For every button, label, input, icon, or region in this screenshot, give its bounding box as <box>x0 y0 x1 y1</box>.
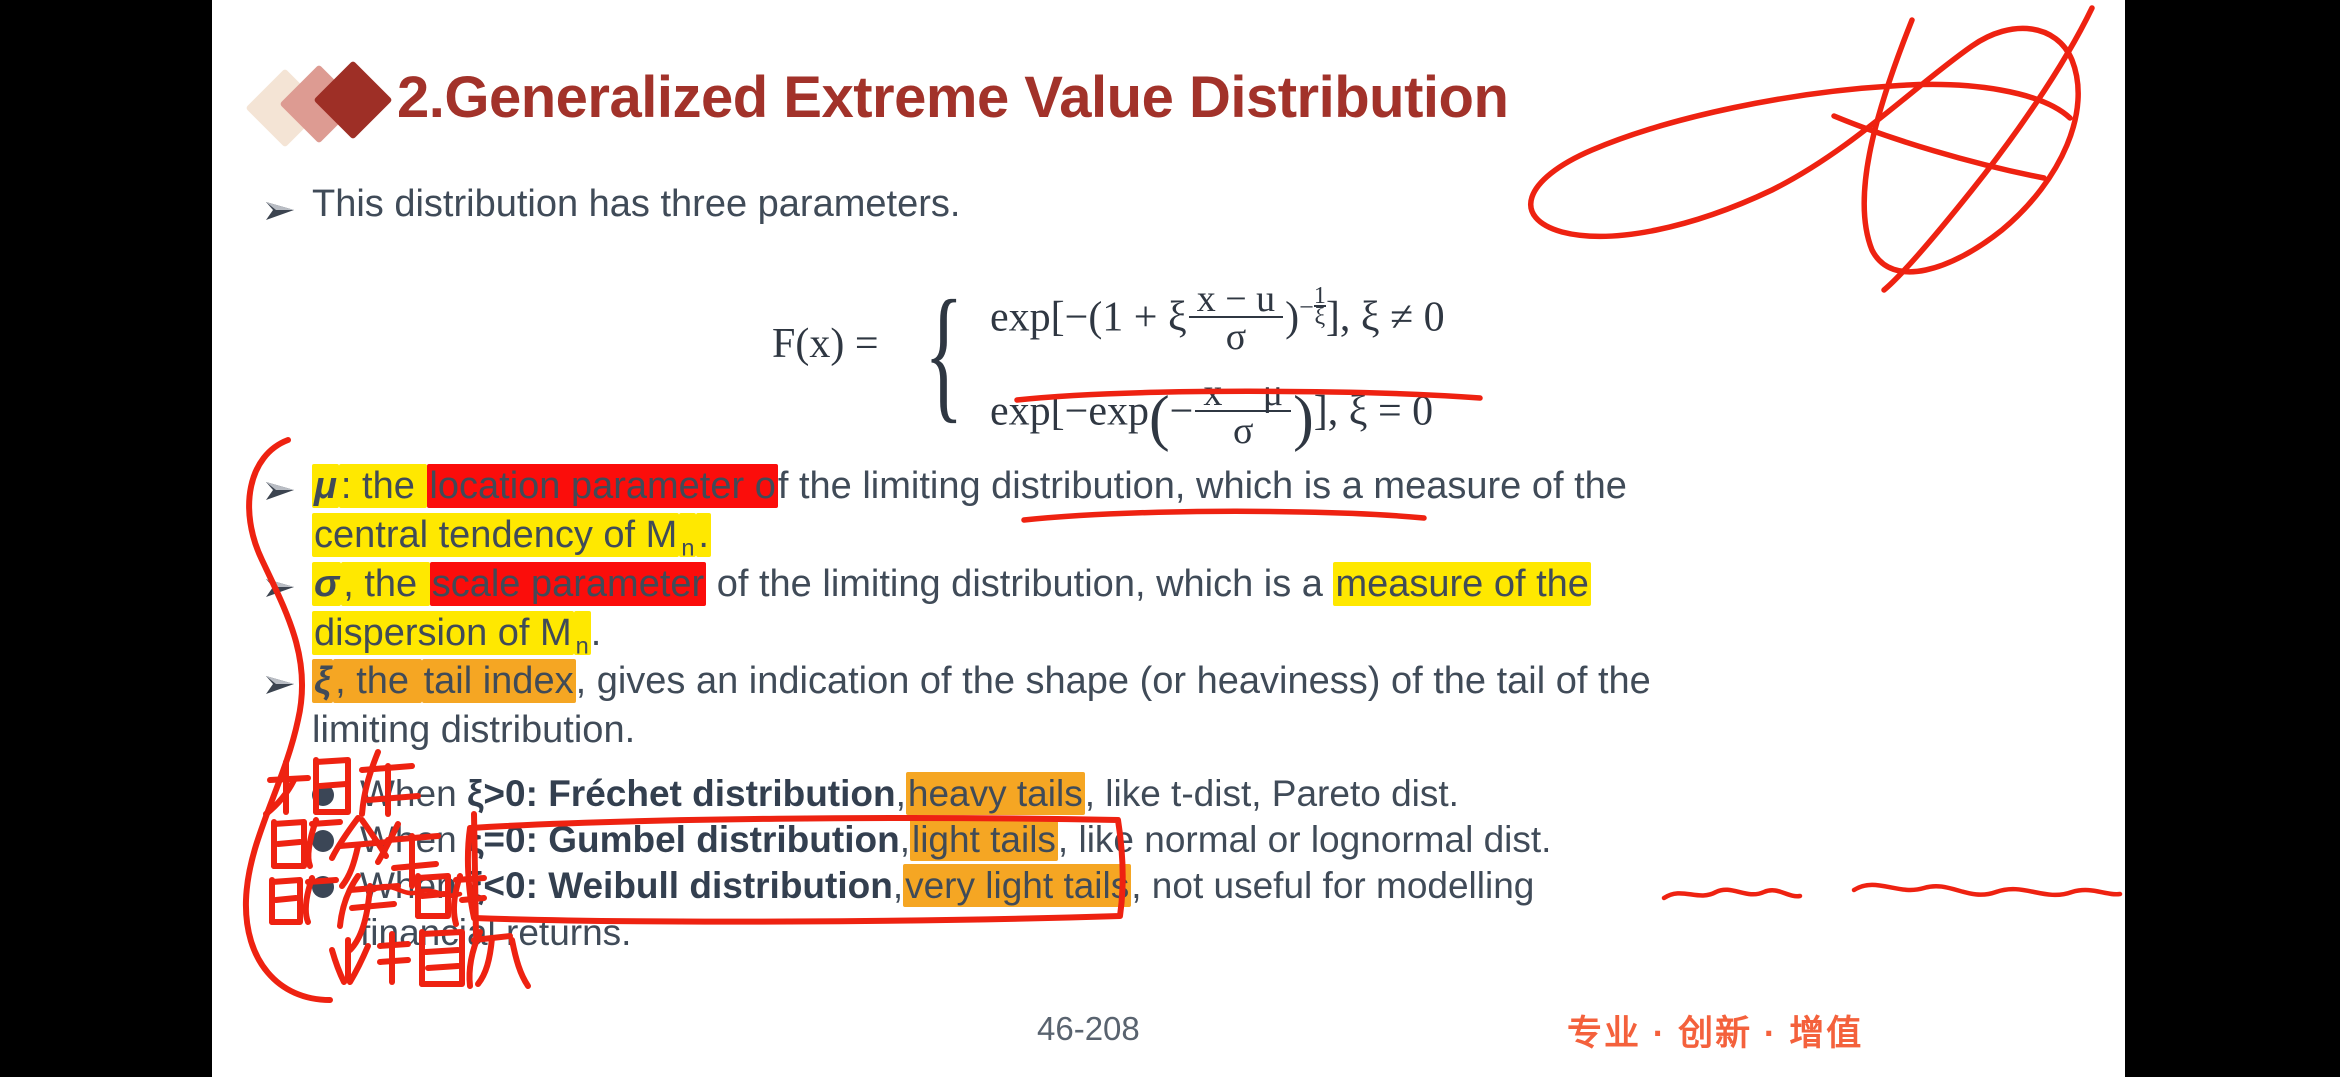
case2-tail: ], ξ = 0 <box>1314 389 1433 435</box>
bullet-sigma-hl-red: scale parameter <box>430 562 706 606</box>
formula-case-1: exp[−(1 + ξx − uσ)−1ξ], ξ ≠ 0 <box>990 284 1445 358</box>
case-weibull-cond: ξ<0: <box>467 865 548 906</box>
title-scribble-loop <box>1531 8 2092 290</box>
bullet-sigma-hl-yellow-2: dispersion of M <box>312 611 574 655</box>
arrow-bullet-icon <box>264 478 298 504</box>
case-gumbel-dist: Gumbel distribution <box>548 819 899 860</box>
slide-screenshot: 2.Generalized Extreme Value Distribution… <box>0 0 2340 1077</box>
case-weibull: When ξ<0: Weibull distribution,very ligh… <box>360 862 2120 956</box>
case-frechet-rest: , like t-dist, Pareto dist. <box>1085 773 1459 814</box>
case1-exp-den: ξ <box>1314 305 1326 327</box>
case1-exponent: 1ξ <box>1314 287 1326 327</box>
case2-close-paren: ) <box>1293 385 1314 453</box>
case1-fraction: x − uσ <box>1189 282 1283 356</box>
case-frechet-cond: ξ>0: <box>467 773 548 814</box>
bullet-sigma-mid: of the limiting distribution, which is a <box>706 563 1333 605</box>
case-frechet: When ξ>0: Fréchet distribution,heavy tai… <box>360 770 2120 817</box>
case-gumbel-rest: , like normal or lognormal dist. <box>1058 819 1552 860</box>
case-frechet-dist: Fréchet distribution <box>548 773 895 814</box>
case-weibull-wrap: financial returns. <box>360 912 631 953</box>
bullet-xi-symbol: ξ <box>312 659 333 703</box>
bullet-mu: μ: the location parameter of the limitin… <box>312 462 2072 573</box>
dot-bullet-icon <box>312 830 334 852</box>
bullet-sigma-line2-end: . <box>591 612 602 654</box>
formula-brace: { <box>924 278 964 428</box>
case1-denominator: σ <box>1189 316 1283 356</box>
bullet-mu-sub: n <box>681 535 694 561</box>
dot-bullet-icon <box>312 784 334 806</box>
bullet-sigma-sub: n <box>576 633 589 659</box>
bullet-xi-hl-orange: tail index <box>422 659 576 703</box>
slide-canvas: 2.Generalized Extreme Value Distribution… <box>212 0 2125 1077</box>
arrow-bullet-icon <box>264 198 298 224</box>
case2-prefix: exp[−exp <box>990 389 1149 435</box>
dot-bullet-icon <box>312 876 334 898</box>
case1-tail: ], ξ ≠ 0 <box>1326 295 1445 341</box>
formula-lhs: F(x) = <box>772 320 879 368</box>
case1-exp-num: 1 <box>1314 287 1326 305</box>
bullet-xi-line2: limiting distribution. <box>312 709 635 751</box>
bullet-mu-colon: : the <box>339 464 428 508</box>
case-gumbel-hl: light tails <box>910 818 1058 861</box>
bullet-sigma-symbol: σ <box>312 562 341 606</box>
bullet-sigma: σ, the scale parameter of the limiting d… <box>312 560 2072 671</box>
bullet-mu-line1-rest: f the limiting distribution, which is a … <box>778 465 1627 507</box>
case-weibull-dist: Weibull distribution <box>548 865 893 906</box>
bullet-mu-symbol: μ <box>312 464 339 508</box>
page-number: 46-208 <box>1037 1010 1140 1048</box>
bullet-sigma-hl-yellow-1: measure of the <box>1333 562 1590 606</box>
case2-numerator: x − μ <box>1195 376 1291 410</box>
bullet-xi-line1-rest: , gives an indication of the shape (or h… <box>576 660 1651 702</box>
case-weibull-lead: When <box>360 865 467 906</box>
case-gumbel-lead: When <box>360 819 467 860</box>
case-gumbel-cond: ξ=0: <box>467 819 548 860</box>
case-frechet-lead: When <box>360 773 467 814</box>
case1-prefix: exp[−(1 + ξ <box>990 295 1187 341</box>
case-weibull-hl: very light tails <box>903 864 1131 907</box>
arrow-bullet-icon <box>264 672 298 698</box>
case-weibull-rest: , not useful for modelling <box>1131 865 1534 906</box>
case1-close: ) <box>1285 295 1299 341</box>
case-weibull-comma: , <box>893 865 903 906</box>
bullet-sigma-comma: , the <box>341 562 430 606</box>
bullet-mu-hl-red: location parameter o <box>427 464 777 508</box>
formula-case-2: exp[−exp(−x − μσ)], ξ = 0 <box>990 378 1433 455</box>
case1-numerator: x − u <box>1189 282 1283 316</box>
case-gumbel: When ξ=0: Gumbel distribution,light tail… <box>360 816 2120 863</box>
bullet-mu-hl-yellow: central tendency of M <box>312 513 679 557</box>
bullet-xi-comma: , the <box>333 659 422 703</box>
case2-denominator: σ <box>1195 410 1291 450</box>
intro-bullet-text: This distribution has three parameters. <box>312 180 1812 229</box>
case2-open-paren: ( <box>1149 385 1170 453</box>
brand-watermark: 专业 · 创新 · 增值 <box>1567 1005 1863 1056</box>
case2-minus: − <box>1170 389 1194 435</box>
case1-exp-sign: − <box>1299 293 1314 322</box>
page-title: 2.Generalized Extreme Value Distribution <box>397 64 1508 131</box>
case-frechet-comma: , <box>896 773 906 814</box>
case-gumbel-comma: , <box>900 819 910 860</box>
case2-fraction: x − μσ <box>1195 376 1291 450</box>
case-frechet-hl: heavy tails <box>906 772 1085 815</box>
bullet-xi: ξ, the tail index, gives an indication o… <box>312 657 2072 755</box>
arrow-bullet-icon <box>264 575 298 601</box>
bullet-mu-line2-end: . <box>696 513 711 557</box>
